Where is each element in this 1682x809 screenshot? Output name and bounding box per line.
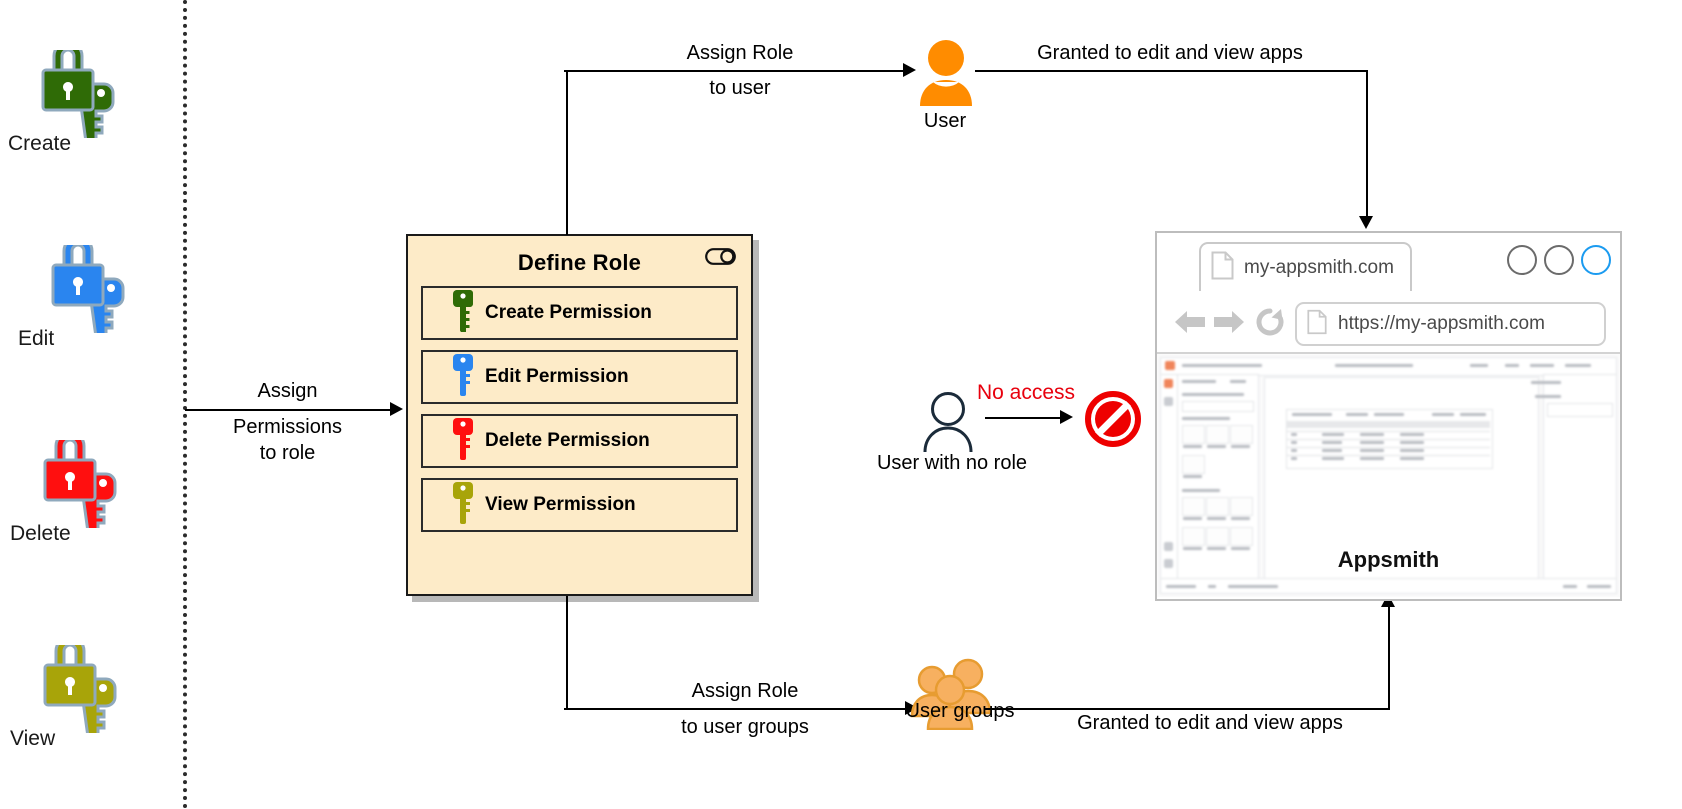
key-icon xyxy=(453,290,473,337)
window-maximize-button[interactable] xyxy=(1544,245,1574,275)
legend-label: Delete xyxy=(10,523,71,544)
window-minimize-button[interactable] xyxy=(1507,245,1537,275)
forward-arrow-icon[interactable] xyxy=(1212,308,1246,341)
window-controls xyxy=(1507,245,1611,275)
permission-row-delete[interactable]: Delete Permission xyxy=(421,414,738,468)
user-groups-icon xyxy=(910,658,996,735)
key-icon xyxy=(453,354,473,401)
browser-window: my-appsmith.com xyxy=(1155,231,1622,601)
browser-chrome: my-appsmith.com xyxy=(1157,233,1620,354)
edge-role-to-user-vertical xyxy=(566,70,568,235)
browser-tab[interactable]: my-appsmith.com xyxy=(1199,242,1412,291)
appsmith-wordmark: Appsmith xyxy=(1157,547,1620,573)
app-preview: Appsmith xyxy=(1157,354,1620,597)
edge-no-access-line xyxy=(985,417,1065,419)
legend-label: Create xyxy=(8,133,71,154)
lock-key-icon xyxy=(38,50,118,143)
edge-user-to-app-vertical xyxy=(1366,70,1368,220)
user-icon xyxy=(915,38,977,115)
edge-label-assign-role-user-2: to user xyxy=(600,75,880,102)
permission-label: View Permission xyxy=(485,494,636,516)
edge-label-assign-role-groups-2: to user groups xyxy=(600,714,890,741)
page-title: Define Role xyxy=(408,250,751,276)
address-bar-row: https://my-appsmith.com xyxy=(1157,295,1620,353)
user-groups-label: User groups xyxy=(885,700,1035,723)
legend-item-create: Create xyxy=(0,50,150,160)
edge-label-assign-1: Assign xyxy=(185,378,390,405)
page-icon xyxy=(1211,251,1234,285)
window-close-button[interactable] xyxy=(1581,245,1611,275)
edge-no-access-arrowhead xyxy=(1060,410,1073,424)
no-access-label: No access xyxy=(977,381,1075,405)
edge-user-to-app-horizontal xyxy=(975,70,1368,72)
no-entry-icon xyxy=(1085,391,1141,452)
reload-icon[interactable] xyxy=(1255,307,1285,342)
legend-item-delete: Delete xyxy=(2,440,152,550)
key-icon xyxy=(453,482,473,529)
user-label: User xyxy=(885,110,1005,133)
lock-key-icon xyxy=(40,440,120,533)
edge-assign-permissions-arrowhead xyxy=(390,402,403,416)
edge-role-to-user-horizontal xyxy=(564,70,912,72)
legend-label: View xyxy=(10,728,55,749)
url-text: https://my-appsmith.com xyxy=(1338,313,1545,335)
user-no-role-icon xyxy=(920,390,976,459)
page-icon xyxy=(1307,309,1327,340)
permission-label: Edit Permission xyxy=(485,366,629,388)
edge-label-assign-2: Permissions xyxy=(185,414,390,441)
url-input[interactable]: https://my-appsmith.com xyxy=(1295,302,1606,346)
edge-role-to-groups-horizontal xyxy=(564,708,914,710)
user-no-role-label: User with no role xyxy=(872,452,1032,475)
edge-label-granted-bottom: Granted to edit and view apps xyxy=(1040,710,1380,737)
legend-item-view: View xyxy=(2,645,152,755)
edge-label-assign-3: to role xyxy=(185,440,390,467)
back-arrow-icon[interactable] xyxy=(1173,308,1207,341)
permission-label: Delete Permission xyxy=(485,430,650,452)
permission-label: Create Permission xyxy=(485,302,652,324)
permission-row-create[interactable]: Create Permission xyxy=(421,286,738,340)
define-role-card: Define Role Create Permission xyxy=(406,234,753,596)
permission-row-edit[interactable]: Edit Permission xyxy=(421,350,738,404)
edge-label-assign-role-user-1: Assign Role xyxy=(600,40,880,67)
edge-label-assign-role-groups-1: Assign Role xyxy=(600,678,890,705)
lock-key-icon xyxy=(40,645,120,738)
edge-groups-to-app-vertical xyxy=(1388,606,1390,710)
edge-user-to-app-arrowhead xyxy=(1359,216,1373,229)
edge-assign-permissions-line xyxy=(185,409,390,411)
lock-key-icon xyxy=(48,245,128,338)
role-enabled-toggle[interactable] xyxy=(705,248,736,265)
permission-row-view[interactable]: View Permission xyxy=(421,478,738,532)
key-icon xyxy=(453,418,473,465)
edge-label-granted-top: Granted to edit and view apps xyxy=(1000,40,1340,67)
legend-item-edit: Edit xyxy=(10,245,160,355)
edge-role-to-groups-vertical xyxy=(566,596,568,710)
tab-title: my-appsmith.com xyxy=(1244,257,1394,279)
legend-label: Edit xyxy=(18,328,54,349)
diagram-canvas: Create Edit xyxy=(0,0,1682,809)
